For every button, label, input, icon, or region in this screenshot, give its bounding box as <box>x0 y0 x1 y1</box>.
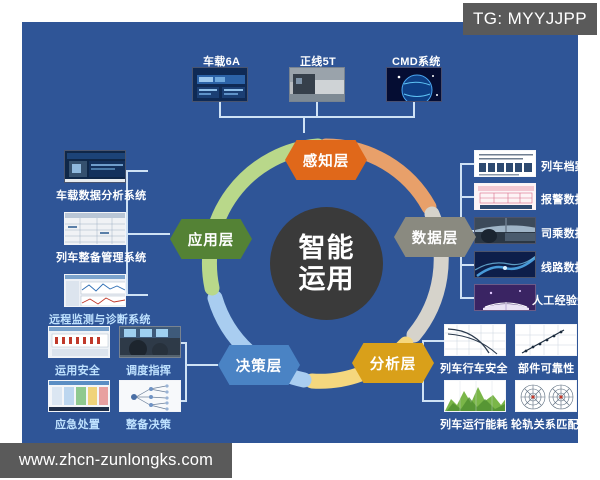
item-label-data-4: 线路数据 <box>541 259 578 275</box>
item-label-dec-3: 应急处置 <box>55 416 100 432</box>
thumb-ana-1[interactable] <box>444 324 506 356</box>
center-line-1: 智能 <box>299 233 355 263</box>
layer-label-data: 数据层 <box>412 227 459 248</box>
item-label-app-2: 列车整备管理系统 <box>56 249 146 265</box>
thumb-app-1[interactable] <box>64 150 126 183</box>
connector-sense-stem <box>303 116 305 133</box>
diagram-root: 智能 运用 感知层 应用层 数据层 决策层 分析层 <box>0 0 600 480</box>
thumb-data-5[interactable] <box>474 284 536 311</box>
connector-data-5 <box>460 297 474 299</box>
diagram-panel: 智能 运用 感知层 应用层 数据层 决策层 分析层 <box>22 22 578 443</box>
thumb-ana-3[interactable] <box>444 380 506 412</box>
thumb-data-4[interactable] <box>474 251 536 278</box>
connector-app-1 <box>126 170 148 172</box>
tg-badge: TG: MYYJJPP <box>463 3 597 35</box>
item-label-dec-1: 运用安全 <box>55 362 100 378</box>
layer-label-decision: 决策层 <box>236 355 283 376</box>
thumb-data-1[interactable] <box>474 150 536 177</box>
layer-label-application: 应用层 <box>188 229 235 250</box>
thumb-ana-4[interactable] <box>515 380 577 412</box>
connector-app-stem <box>126 233 170 235</box>
layer-node-decision[interactable]: 决策层 <box>218 345 300 385</box>
connector-dec-bus <box>185 342 187 402</box>
connector-ana-1 <box>422 340 444 342</box>
connector-sense-3 <box>413 102 415 118</box>
item-label-app-3: 远程监测与诊断系统 <box>49 311 151 327</box>
watermark: www.zhcn-zunlongks.com <box>0 443 232 478</box>
item-label-dec-4: 整备决策 <box>126 416 171 432</box>
item-label-ana-3: 列车运行能耗 <box>440 416 508 432</box>
thumb-data-2[interactable] <box>474 183 536 210</box>
thumb-sense-3[interactable] <box>386 67 442 102</box>
item-label-sense-3: CMD系统 <box>392 53 441 69</box>
thumb-sense-2[interactable] <box>289 67 345 102</box>
item-label-data-2: 报警数据 <box>541 191 578 207</box>
connector-data-1 <box>460 163 474 165</box>
item-label-dec-2: 调度指挥 <box>126 362 171 378</box>
item-label-data-5: 人工经验知识库 <box>532 292 578 308</box>
item-label-app-1: 车载数据分析系统 <box>56 187 146 203</box>
thumb-dec-3[interactable] <box>48 380 110 412</box>
thumb-app-2[interactable] <box>64 212 126 245</box>
layer-node-sense[interactable]: 感知层 <box>285 140 367 180</box>
watermark-text: www.zhcn-zunlongks.com <box>19 451 213 470</box>
connector-dec-stem <box>185 364 218 366</box>
layer-node-analysis[interactable]: 分析层 <box>352 343 434 383</box>
connector-sense-2 <box>316 102 318 118</box>
layer-node-data[interactable]: 数据层 <box>394 217 476 257</box>
thumb-dec-4[interactable] <box>119 380 181 412</box>
item-label-sense-2: 正线5T <box>300 53 336 69</box>
connector-ana-2 <box>422 400 444 402</box>
layer-label-sense: 感知层 <box>303 150 350 171</box>
connector-sense-1 <box>219 102 221 118</box>
item-label-data-1: 列车档案 <box>541 158 578 174</box>
thumb-dec-2[interactable] <box>119 326 181 358</box>
thumb-ana-2[interactable] <box>515 324 577 356</box>
thumb-dec-1[interactable] <box>48 326 110 358</box>
layer-node-application[interactable]: 应用层 <box>170 219 252 259</box>
connector-data-2 <box>460 196 474 198</box>
center-label: 智能 运用 <box>270 207 383 320</box>
item-label-ana-2: 部件可靠性 <box>518 360 575 376</box>
connector-app-3 <box>126 294 148 296</box>
layer-label-analysis: 分析层 <box>370 353 417 374</box>
item-label-data-3: 司乘数据 <box>541 225 578 241</box>
thumb-sense-1[interactable] <box>192 67 248 102</box>
item-label-ana-4: 轮轨关系匹配度 <box>511 416 578 432</box>
center-line-2: 运用 <box>299 264 355 294</box>
tg-badge-text: TG: MYYJJPP <box>473 9 587 29</box>
item-label-ana-1: 列车行车安全 <box>440 360 508 376</box>
item-label-sense-1: 车载6A <box>203 53 240 69</box>
connector-data-4 <box>460 264 474 266</box>
thumb-data-3[interactable] <box>474 217 536 244</box>
thumb-app-3[interactable] <box>64 274 126 307</box>
